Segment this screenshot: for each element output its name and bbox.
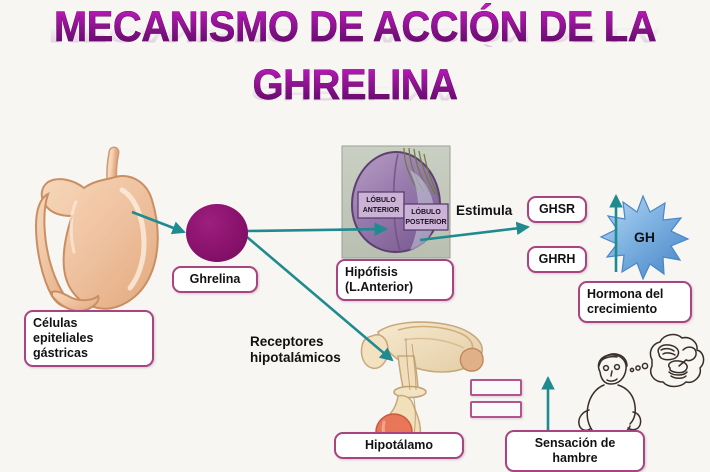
arrow-ghrelin-to-pituitary [247,229,386,231]
label-ghrelina: Ghrelina [172,266,258,293]
label-hipofisis: Hipófisis (L.Anterior) [336,259,454,301]
arrow-stomach-to-ghrelin [132,212,184,232]
hungry-person-cartoon [579,335,704,444]
celulas-line-2: epiteliales [33,331,145,346]
lobe-anterior-label-line2: ANTERIOR [363,207,400,214]
hormona-line-2: crecimiento [587,302,683,317]
ghrelin-molecule-circle [186,204,248,262]
title-line-1: MECANISMO DE ACCIÓN DE LA [25,3,685,52]
diagram-canvas: MECANISMO DE ACCIÓN DE LA GHRELINA MECAN… [0,0,710,472]
label-estimula: Estimula [456,203,512,219]
pituitary-illustration: LÓBULO ANTERIOR LÓBULO POSTERIOR [342,146,450,258]
label-hipotalamo: Hipotálamo [334,432,464,459]
celulas-line-1: Células [33,316,145,331]
label-receptores-hipotalamicos: Receptores hipotalámicos [250,334,341,366]
celulas-line-3: gástricas [33,346,145,361]
title-block: MECANISMO DE ACCIÓN DE LA GHRELINA MECAN… [0,0,710,130]
lobe-anterior-label-line1: LÓBULO [366,195,396,204]
receptores-line-2: hipotalámicos [250,350,341,366]
hormona-line-1: Hormona del [587,287,683,302]
stomach-illustration [36,152,158,311]
arrow-estimula-to-ghsr [420,227,528,240]
label-ghrh: GHRH [527,246,587,273]
lobe-posterior-label-line1: LÓBULO [411,207,441,216]
gh-label: GH [634,229,655,245]
label-ghsr: GHSR [527,196,587,223]
lobe-posterior-label-line2: POSTERIOR [405,219,446,226]
title-line-2: GHRELINA [25,61,685,110]
label-sensacion-de-hambre: Sensación de hambre [505,430,645,472]
empty-box-2 [470,401,522,418]
receptores-line-1: Receptores [250,334,341,350]
label-hormona-crecimiento: Hormona del crecimiento [578,281,692,323]
label-celulas-epiteliales-gastricas: Células epiteliales gástricas [24,310,154,367]
hipofisis-line-1: Hipófisis [345,265,445,280]
empty-box-1 [470,379,522,396]
hipofisis-line-2: (L.Anterior) [345,280,445,295]
